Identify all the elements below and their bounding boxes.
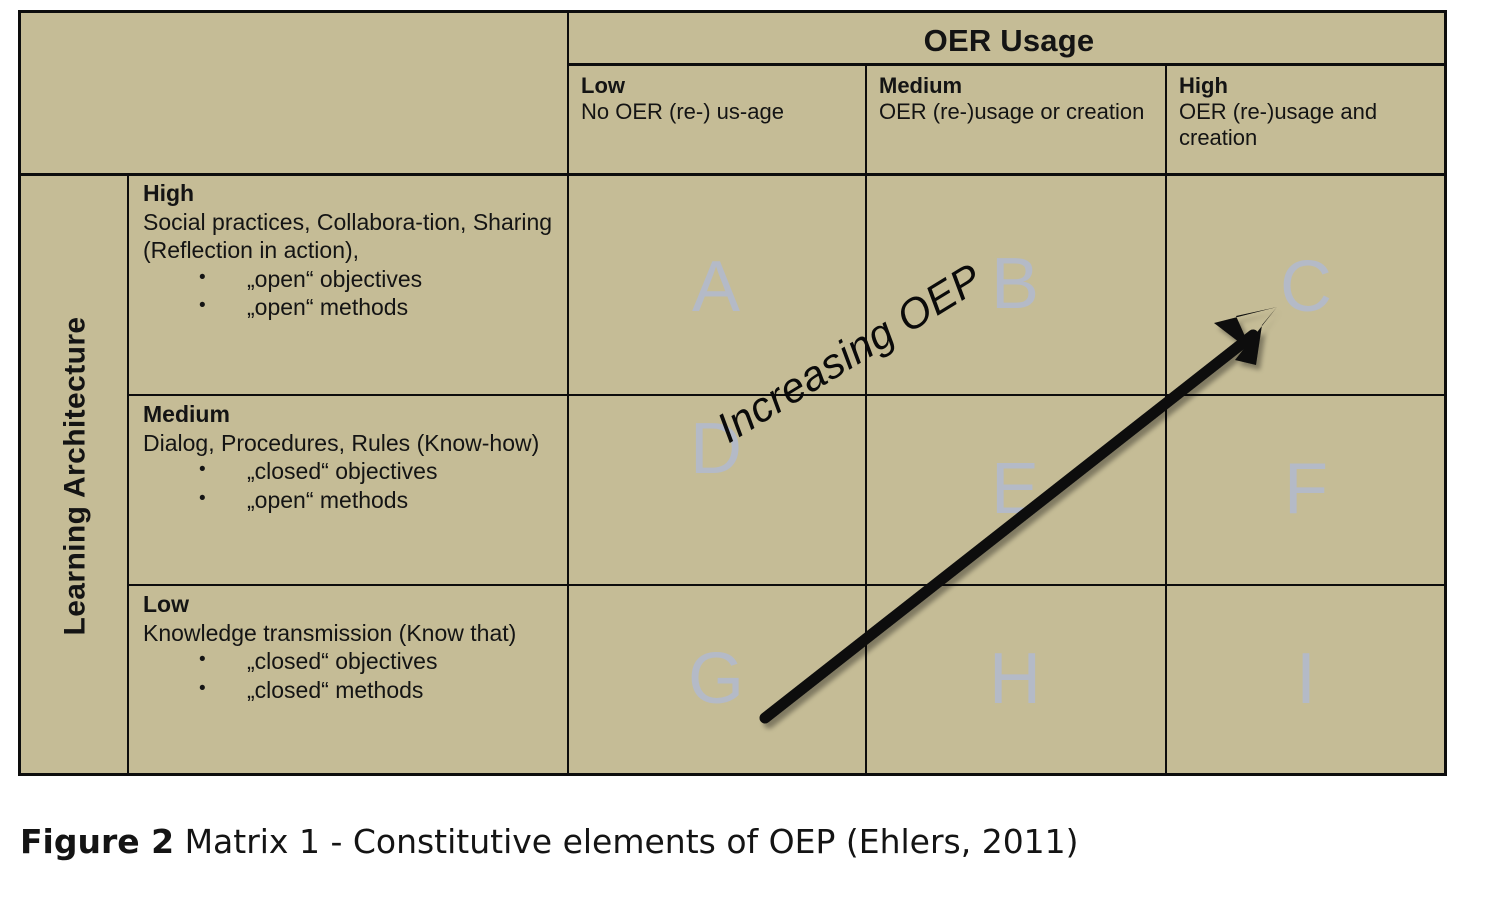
row-label-low-bullets: „closed“ objectives „closed“ methods [143, 647, 565, 704]
column-header-low-title: Low [581, 73, 859, 99]
matrix-cell-d: D [567, 413, 865, 485]
row-label-high-title: High [143, 179, 565, 208]
row-label-high-description: Social practices, Collabora-tion, Sharin… [143, 208, 565, 265]
row-label-high: High Social practices, Collabora-tion, S… [133, 177, 571, 322]
list-item: „open“ methods [199, 293, 565, 322]
row-label-low-title: Low [143, 590, 565, 619]
row-label-medium: Medium Dialog, Procedures, Rules (Know-h… [133, 398, 571, 514]
list-item: „closed“ objectives [199, 647, 565, 676]
matrix-cell-g: G [567, 643, 865, 715]
matrix-cell-b: B [865, 248, 1165, 320]
row-axis-title-text: Learning Architecture [59, 316, 93, 635]
column-header-medium-title: Medium [879, 73, 1159, 99]
column-axis-title: OER Usage [571, 17, 1447, 65]
list-item: „open“ objectives [199, 265, 565, 294]
row-label-low: Low Knowledge transmission (Know that) „… [133, 588, 571, 704]
matrix-cell-h: H [865, 643, 1165, 715]
row-divider-medium-low [127, 584, 1447, 586]
column-header-medium-description: OER (re-)usage or creation [879, 99, 1159, 125]
matrix-cell-a: A [567, 251, 865, 323]
column-header-high: High OER (re-)usage and creation [1169, 69, 1447, 179]
row-axis-title: Learning Architecture [21, 176, 131, 776]
list-item: „closed“ objectives [199, 457, 565, 486]
figure-container: OER Usage Low No OER (re-) us-age Medium… [0, 0, 1488, 904]
row-divider-high-medium [127, 394, 1447, 396]
column-header-low-description: No OER (re-) us-age [581, 99, 859, 125]
row-label-high-bullets: „open“ objectives „open“ methods [143, 265, 565, 322]
figure-caption-label: Figure 2 [20, 822, 174, 861]
column-header-low: Low No OER (re-) us-age [571, 69, 867, 179]
matrix-cell-f: F [1165, 453, 1447, 525]
figure-caption: Figure 2 Matrix 1 - Constitutive element… [20, 822, 1079, 861]
list-item: „open“ methods [199, 486, 565, 515]
list-item: „closed“ methods [199, 676, 565, 705]
figure-caption-text: Matrix 1 - Constitutive elements of OEP … [174, 822, 1078, 861]
row-label-low-description: Knowledge transmission (Know that) [143, 619, 565, 648]
oep-matrix-table: OER Usage Low No OER (re-) us-age Medium… [18, 10, 1447, 776]
row-label-medium-bullets: „closed“ objectives „open“ methods [143, 457, 565, 514]
column-header-medium: Medium OER (re-)usage or creation [869, 69, 1167, 179]
row-label-medium-title: Medium [143, 400, 565, 429]
row-label-medium-description: Dialog, Procedures, Rules (Know-how) [143, 429, 565, 458]
column-header-high-description: OER (re-)usage and creation [1179, 99, 1439, 151]
matrix-cell-c: C [1165, 251, 1447, 323]
matrix-cell-i: I [1165, 643, 1447, 715]
matrix-cell-e: E [865, 453, 1165, 525]
column-header-high-title: High [1179, 73, 1439, 99]
